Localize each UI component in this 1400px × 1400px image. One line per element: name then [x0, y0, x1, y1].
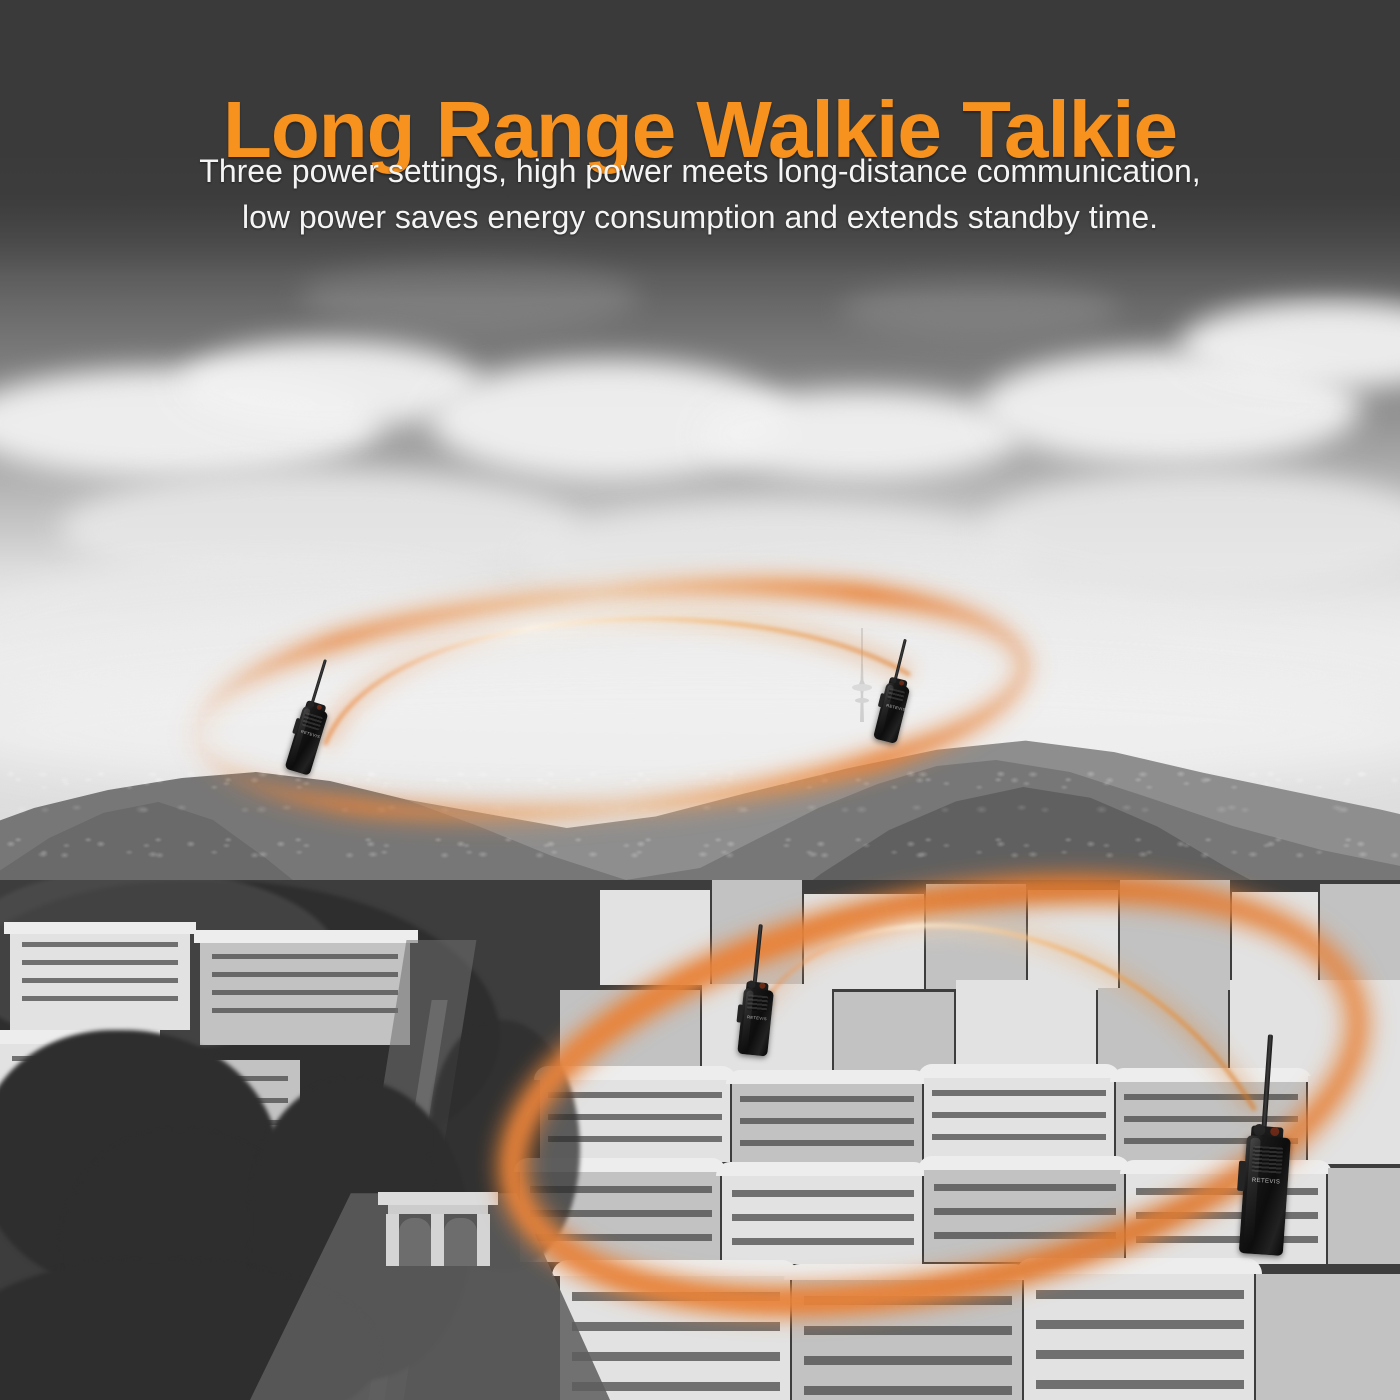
city-skyline [0, 880, 1400, 1400]
radio-city-left: RETEVIS [723, 922, 806, 1059]
subtitle-line-1: Three power settings, high power meets l… [0, 148, 1400, 194]
paifang-gate [378, 1192, 498, 1266]
page-subtitle: Three power settings, high power meets l… [0, 148, 1400, 241]
marketing-banner: RETEVIS RETEVIS RETEVIS RETEVIS [0, 0, 1400, 1400]
radio-city-right: RETEVIS [1220, 1032, 1326, 1268]
subtitle-line-2: low power saves energy consumption and e… [0, 194, 1400, 240]
